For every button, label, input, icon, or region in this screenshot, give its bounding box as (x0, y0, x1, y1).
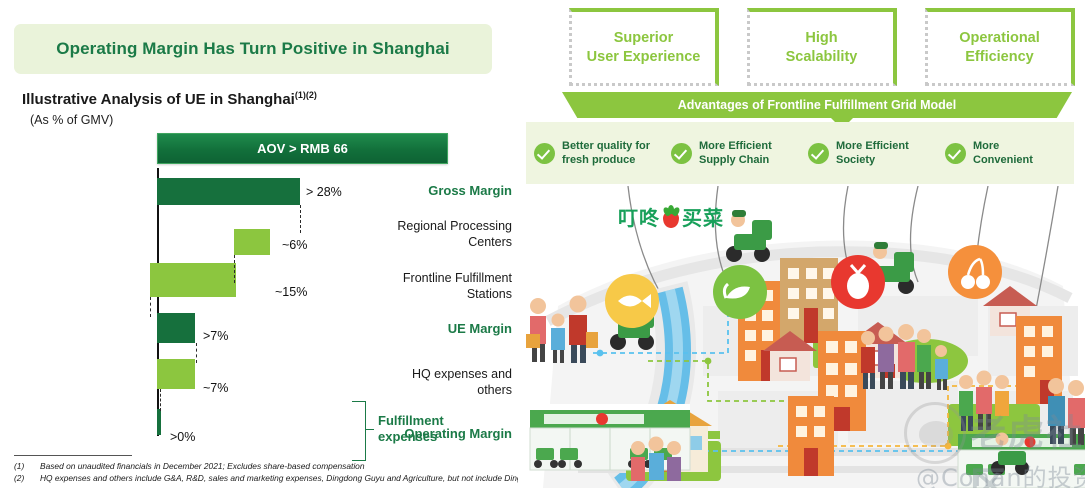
chart-value-label: >0% (170, 430, 195, 444)
badge-vegetable-icon (713, 265, 767, 319)
advantage-pillar-label: HighScalability (786, 29, 858, 67)
chart-connector (196, 343, 197, 363)
check-circle-icon (534, 143, 555, 164)
fulfillment-bracket (352, 401, 366, 461)
benefit-label: More EfficientSociety (836, 139, 909, 167)
chart-bar (157, 359, 195, 389)
chart-subtitle-text: Illustrative Analysis of UE in Shanghai (22, 91, 295, 108)
check-circle-icon (945, 143, 966, 164)
chart-bar (150, 263, 236, 297)
radish-icon (662, 206, 680, 228)
fulfillment-bracket-tick (365, 429, 374, 430)
waterfall-chart: > 28%~6%~15%>7%~7%>0% Gross MarginRegion… (0, 168, 512, 453)
right-panel: SuperiorUser ExperienceHighScalabilityOp… (512, 0, 1085, 488)
page-title: Operating Margin Has Turn Positive in Sh… (56, 39, 449, 59)
chart-value-label: ~6% (282, 238, 307, 252)
footnote-2-number: (2) (14, 473, 40, 483)
chart-subtitle: Illustrative Analysis of UE in Shanghai(… (22, 90, 317, 108)
chart-bar (234, 229, 270, 255)
footnote-1-text: Based on unaudited financials in Decembe… (40, 461, 365, 471)
footnote-rule (14, 455, 132, 456)
chart-value-label: ~7% (203, 381, 228, 395)
check-circle-icon (671, 143, 692, 164)
aov-header-bar: AOV > RMB 66 (157, 133, 448, 164)
footnote-1: (1)Based on unaudited financials in Dece… (14, 461, 365, 471)
building-right-tall (788, 396, 834, 476)
advantage-pillar: HighScalability (747, 8, 897, 86)
chart-category-label: Regional Processing (364, 218, 512, 234)
footnote-marks: (1)(2) (295, 90, 317, 100)
benefit-label: MoreConvenient (973, 139, 1033, 167)
benefit-item: MoreConvenient (937, 139, 1074, 167)
slide: Operating Margin Has Turn Positive in Sh… (0, 0, 1085, 488)
advantages-ribbon: Advantages of Frontline Fulfillment Grid… (562, 92, 1072, 118)
badge-fish-icon (605, 274, 659, 328)
advantage-pillar: OperationalEfficiency (925, 8, 1075, 86)
fulfillment-label-line2: expenses (378, 429, 437, 444)
aov-label: AOV > RMB 66 (257, 141, 348, 156)
advantage-pillars: SuperiorUser ExperienceHighScalabilityOp… (569, 8, 1077, 88)
chart-value-label: > 28% (306, 185, 342, 199)
chart-category-label: Frontline Fulfillment (364, 270, 512, 286)
chart-category-label: Stations (364, 286, 512, 302)
chart-connector (234, 255, 235, 283)
logo-text-right: 买菜 (682, 202, 724, 231)
benefit-item: More EfficientSupply Chain (663, 139, 800, 167)
slide-title-box: Operating Margin Has Turn Positive in Sh… (14, 24, 492, 74)
fulfillment-label-line1: Fulfillment (378, 413, 444, 428)
dingdong-logo: 叮咚 买菜 (618, 202, 724, 231)
gmv-note: (As % of GMV) (30, 113, 113, 127)
benefit-item: More EfficientSociety (800, 139, 937, 167)
logo-text-left: 叮咚 (618, 202, 660, 231)
footnote-1-number: (1) (14, 461, 40, 471)
city-grid-illustration: 叮咚 买菜 老虎社区 @Conan的投资笔记 (518, 186, 1085, 488)
left-panel: Operating Margin Has Turn Positive in Sh… (0, 0, 512, 488)
chart-connector (150, 297, 151, 317)
chart-bar (157, 178, 300, 205)
building-tan (780, 258, 838, 343)
check-circle-icon (808, 143, 829, 164)
chart-connector (160, 389, 161, 411)
badge-cherries-icon (948, 245, 1002, 299)
advantage-pillar-label: SuperiorUser Experience (587, 29, 701, 67)
benefit-label: More EfficientSupply Chain (699, 139, 772, 167)
benefit-label: Better quality forfresh produce (562, 139, 650, 167)
fulfillment-expenses-label: Fulfillment expenses (378, 413, 444, 445)
advantage-pillar: SuperiorUser Experience (569, 8, 719, 86)
watermark-handle: @Conan的投资笔记 (916, 458, 1085, 488)
chart-category-label: HQ expenses and (364, 366, 512, 382)
people-group-right-1 (631, 437, 681, 482)
benefits-row: Better quality forfresh produceMore Effi… (526, 122, 1074, 184)
chart-category-label: Centers (364, 234, 512, 250)
chart-value-label: >7% (203, 329, 228, 343)
advantage-pillar-label: OperationalEfficiency (959, 29, 1040, 67)
chart-axis-line (157, 168, 159, 436)
advantages-ribbon-label: Advantages of Frontline Fulfillment Grid… (678, 98, 956, 112)
benefit-item: Better quality forfresh produce (526, 139, 663, 167)
chart-value-label: ~15% (275, 285, 307, 299)
chart-connector (300, 205, 301, 233)
chart-category-label: others (364, 382, 512, 398)
chart-bar (157, 313, 195, 343)
watermark-logo-icon (904, 402, 966, 464)
chart-category-label: Gross Margin (364, 183, 512, 199)
chart-category-label: UE Margin (364, 321, 512, 337)
badge-radish-icon (831, 255, 885, 309)
chart-bar (157, 409, 161, 435)
storefront-left (530, 404, 690, 470)
